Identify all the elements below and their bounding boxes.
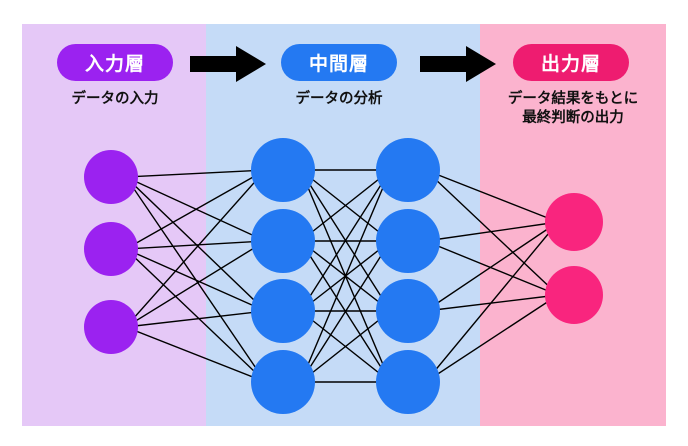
stage-caption-hidden: データの分析: [281, 90, 397, 109]
stage-caption-input: データの入力: [57, 90, 173, 109]
network-node-h2c[interactable]: [376, 279, 440, 343]
network-edge: [426, 170, 558, 222]
network-edge: [126, 249, 266, 311]
stage-pill-output[interactable]: 出力層: [513, 44, 629, 81]
network-edge: [126, 177, 266, 311]
network-node-o1[interactable]: [545, 193, 603, 251]
network-node-i2[interactable]: [84, 222, 138, 276]
arrow-hidden-to-output-icon: [420, 46, 496, 82]
network-nodes: [84, 138, 603, 414]
network-edges: [126, 170, 558, 382]
network-node-h1a[interactable]: [251, 138, 315, 202]
network-node-h1c[interactable]: [251, 279, 315, 343]
network-node-h1d[interactable]: [251, 350, 315, 414]
stage-caption-input-line-1: データの入力: [57, 90, 173, 109]
stage-pill-hidden[interactable]: 中間層: [281, 44, 397, 81]
stage-pill-input-label: 入力層: [85, 49, 145, 76]
stage-header-row: 入力層 データの入力 中間層 データの分析 出力層 データ結果をもとに 最終判断…: [0, 0, 688, 140]
network-node-h2d[interactable]: [376, 350, 440, 414]
network-node-i3[interactable]: [84, 300, 138, 354]
stage-pill-input[interactable]: 入力層: [57, 44, 173, 81]
network-edge: [426, 222, 558, 382]
network-edge: [126, 170, 266, 177]
network-edge: [426, 241, 558, 295]
network-edge: [426, 222, 558, 241]
network-node-h2b[interactable]: [376, 209, 440, 273]
network-node-i1[interactable]: [84, 150, 138, 204]
stage-caption-hidden-line-1: データの分析: [281, 90, 397, 109]
stage-pill-hidden-label: 中間層: [309, 49, 369, 76]
stage-caption-output-line-2: 最終判断の出力: [483, 109, 663, 128]
network-node-o2[interactable]: [545, 266, 603, 324]
network-edge: [126, 249, 266, 382]
stage-caption-output: データ結果をもとに 最終判断の出力: [483, 90, 663, 128]
network-node-h1b[interactable]: [251, 209, 315, 273]
arrow-input-to-hidden-icon: [190, 46, 266, 82]
network-edge: [126, 170, 266, 249]
network-edge: [126, 327, 266, 382]
stage-caption-output-line-1: データ結果をもとに: [483, 90, 663, 109]
stage-pill-output-label: 出力層: [541, 49, 601, 76]
network-node-h2a[interactable]: [376, 138, 440, 202]
network-edge: [426, 170, 558, 295]
diagram-canvas: 入力層 データの入力 中間層 データの分析 出力層 データ結果をもとに 最終判断…: [0, 0, 688, 446]
